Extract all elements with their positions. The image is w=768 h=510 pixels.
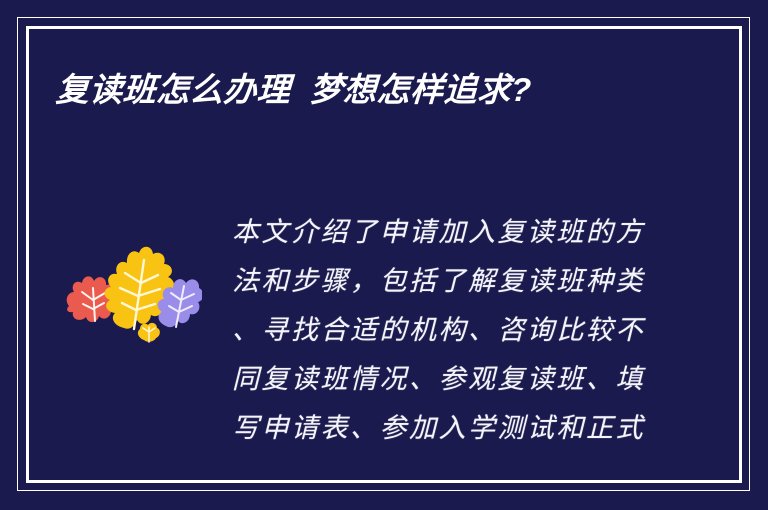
autumn-leaves-illustration [62,228,202,348]
small-yellow-leaf-icon [138,323,160,342]
summary-line: 法和步骤，包括了解复读班种类 [232,257,644,306]
summary-line: 写申请表、参加入学测试和正式 [232,404,644,453]
summary-line: 同复读班情况、参观复读班、填 [232,355,644,404]
poster-canvas: 复读班怎么办理 梦想怎样追求? [0,0,768,510]
summary-line: 、寻找合适的机构、咨询比较不 [232,306,644,355]
page-title: 复读班怎么办理 梦想怎样追求? [55,68,697,112]
article-summary: 本文介绍了申请加入复读班的方 法和步骤，包括了解复读班种类 、寻找合适的机构、咨… [232,208,644,453]
summary-line: 本文介绍了申请加入复读班的方 [232,208,644,257]
